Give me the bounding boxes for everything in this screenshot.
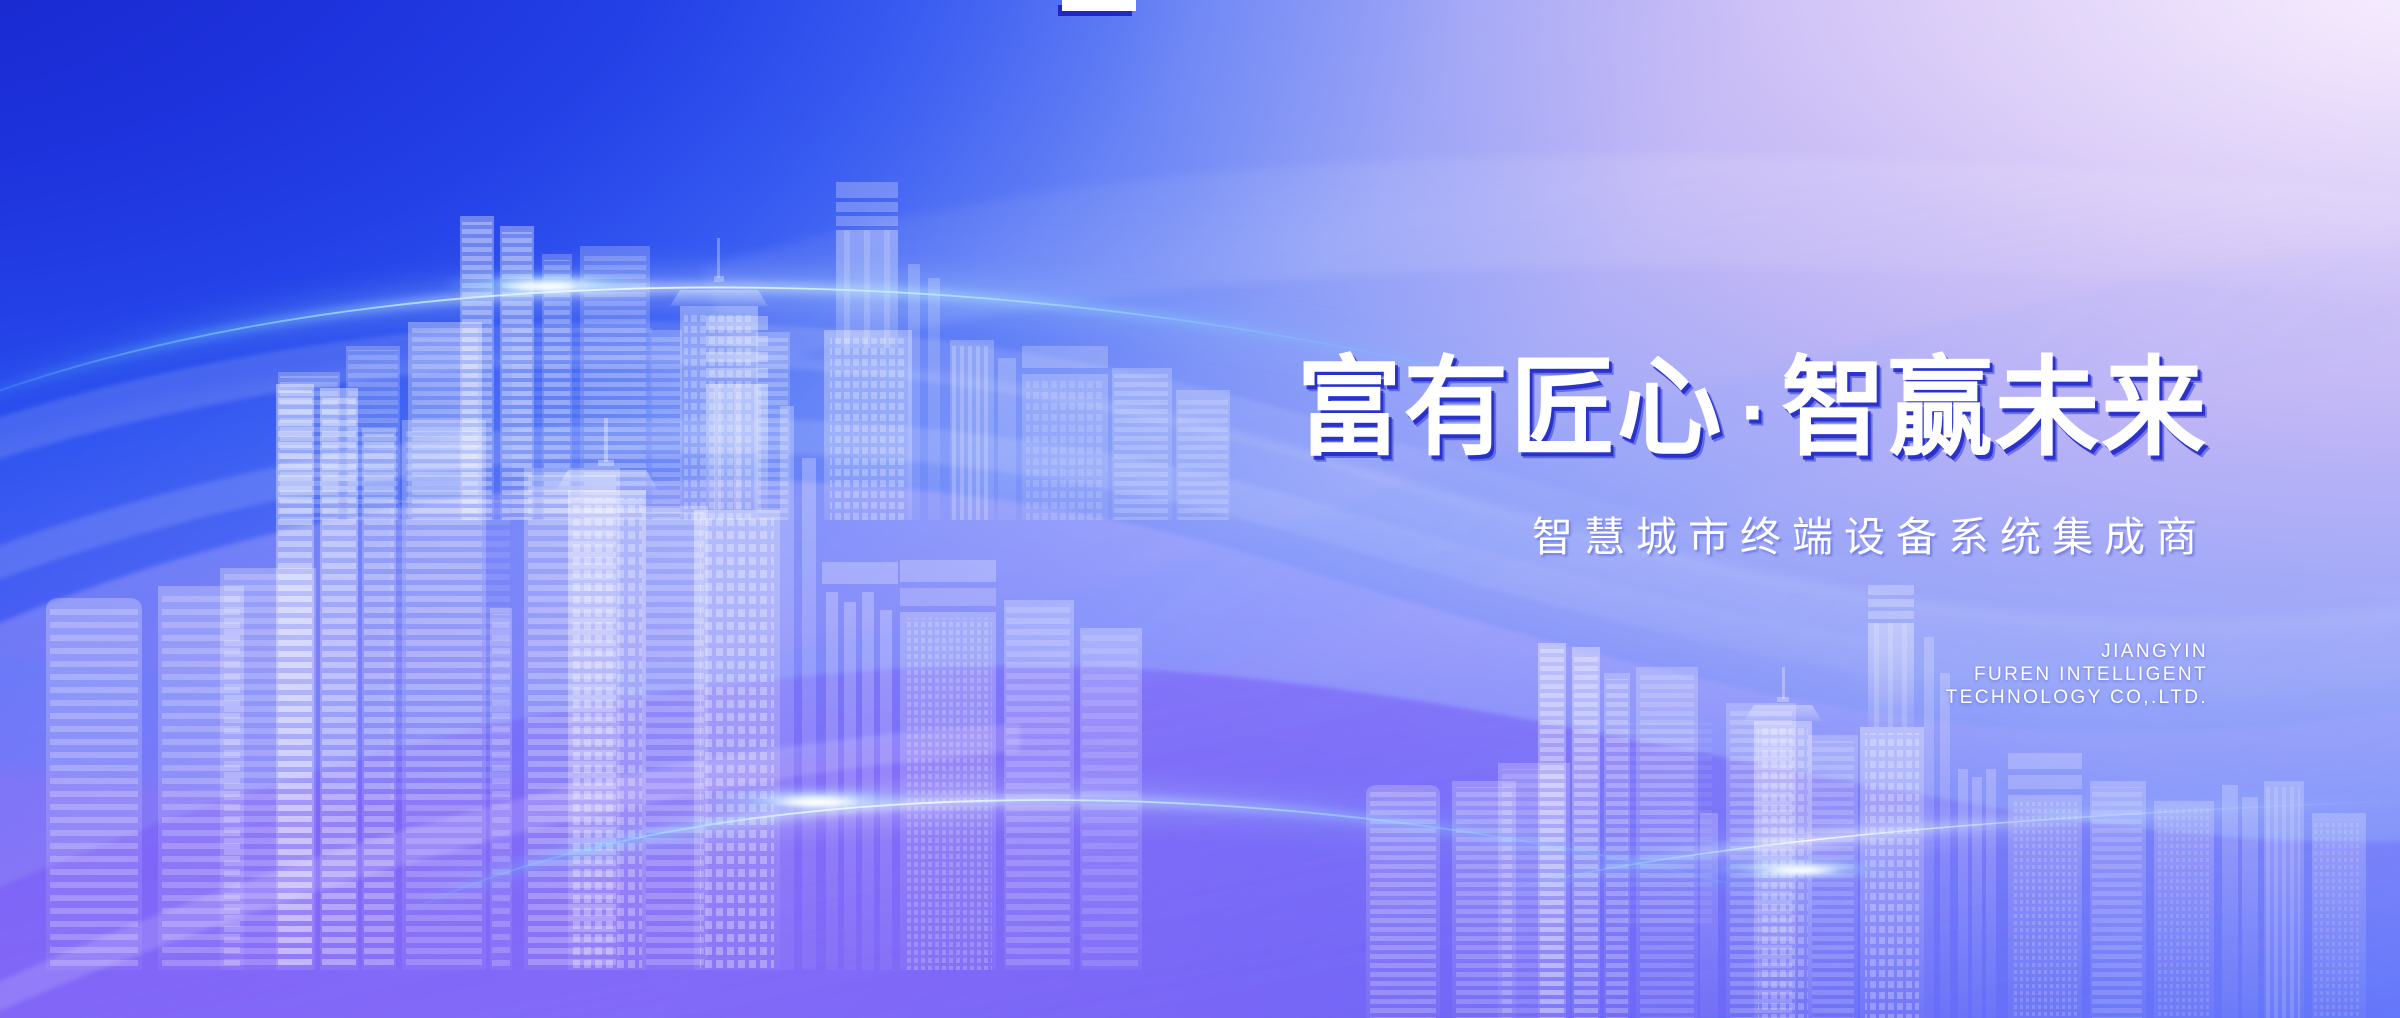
headline-right-phrase: 智赢未来 [1781, 346, 2208, 471]
skyline-left [0, 310, 1170, 970]
company-name-line-3: TECHNOLOGY CO,.LTD. [1060, 686, 2208, 709]
subtitle: 智慧城市终端设备系统集成商 [1060, 503, 2210, 563]
company-name-english: JIANGYIN FUREN INTELLIGENT TECHNOLOGY CO… [1060, 640, 2208, 709]
company-name-line-2: FUREN INTELLIGENT [1060, 663, 2208, 686]
headline-left-phrase: 富有匠心 [1297, 346, 1724, 471]
headline: 富有匠心·智赢未来 [1094, 355, 2208, 463]
headline-separator-dot: · [1724, 371, 1782, 455]
banner-canvas: 富有匠心·智赢未来 智慧城市终端设备系统集成商 JIANGYIN FUREN I… [0, 0, 2400, 1018]
company-name-line-1: JIANGYIN [1060, 640, 2208, 663]
accent-dash-mark [1062, 0, 1136, 11]
